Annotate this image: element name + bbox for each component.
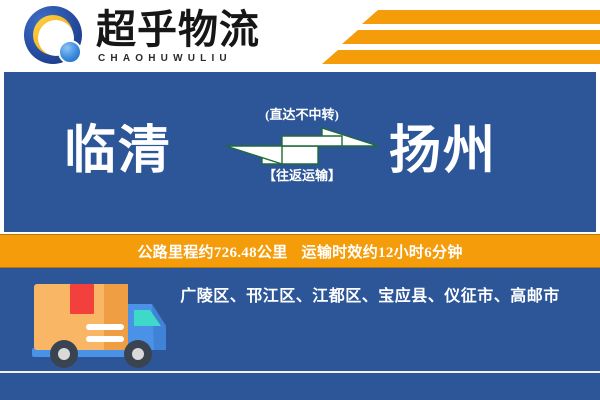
route-info-bar: 公路里程约726.48公里运输时效约12小时6分钟 [0,234,600,268]
ground-line [0,371,600,373]
route-middle-block: (直达不中转) 【往返运输】 [222,106,382,198]
origin-city: 临清 [64,124,172,180]
delivery-truck-icon [26,274,172,374]
covered-districts: 广陵区、邗江区、江都区、宝应县、仪征市、高邮市 [150,282,590,306]
panel-right-margin [596,72,600,234]
distance-label: 公路里程约726.48公里 [137,245,287,261]
logo-small-circle [58,40,82,64]
crescent-circle-logo-icon [24,6,86,68]
logistics-route-banner: 超乎物流 CHAOHUWULIU 临清 (直达不中转) 【往返运输】 扬州 [0,0,600,400]
route-panel: 临清 (直达不中转) 【往返运输】 扬州 [4,72,596,232]
brand-logo: 超乎物流 CHAOHUWULIU [24,6,260,68]
brand-name-cn: 超乎物流 [96,8,260,52]
decorative-stripes [320,8,600,66]
direct-route-note: (直达不中转) [222,106,382,124]
duration-label: 运输时效约12小时6分钟 [302,245,463,261]
bidirectional-arrow-icon [222,126,382,166]
brand-name-en: CHAOHUWULIU [96,52,260,66]
coverage-panel: 广陵区、邗江区、江都区、宝应县、仪征市、高邮市 [0,268,600,400]
info-bar-content: 公路里程约726.48公里运输时效约12小时6分钟 [137,241,462,262]
brand-text: 超乎物流 CHAOHUWULIU [96,6,260,66]
banner-header: 超乎物流 CHAOHUWULIU [0,0,600,72]
destination-city: 扬州 [389,124,497,180]
round-trip-note: 【往返运输】 [222,167,382,185]
